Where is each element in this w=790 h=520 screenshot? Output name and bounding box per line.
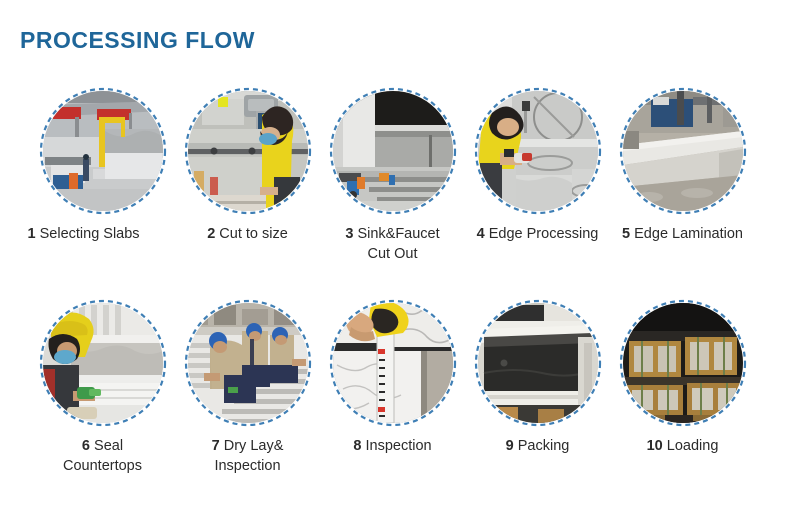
process-step-4[interactable]: 4 Edge Processing (465, 86, 610, 264)
step-6-caption: 6 Seal Countertops (28, 437, 178, 476)
step-1-circle[interactable] (38, 86, 168, 216)
step-7-caption: 7 Dry Lay& Inspection (173, 437, 323, 476)
photo-edge-lamination (623, 91, 743, 211)
step-2-circle[interactable] (183, 86, 313, 216)
process-step-3[interactable]: 3 Sink&Faucet Cut Out (320, 86, 465, 264)
step-10-label: Loading (667, 438, 719, 454)
step-9-caption: 9 Packing (463, 437, 613, 457)
process-step-5[interactable]: 5 Edge Lamination (610, 86, 755, 264)
step-4-number: 4 (477, 226, 485, 242)
step-10-caption: 10 Loading (608, 437, 758, 457)
step-6-number: 6 (82, 438, 90, 454)
step-10-circle[interactable] (618, 298, 748, 428)
step-1-label: Selecting Slabs (40, 226, 140, 242)
process-step-9[interactable]: 9 Packing (465, 298, 610, 476)
step-5-number: 5 (622, 226, 630, 242)
page-title: PROCESSING FLOW (20, 27, 255, 54)
step-5-circle[interactable] (618, 86, 748, 216)
photo-seal-countertops (43, 303, 163, 423)
step-6-circle[interactable] (38, 298, 168, 428)
step-3-label-line1: Sink&Faucet (357, 226, 439, 242)
process-step-10[interactable]: 10 Loading (610, 298, 755, 476)
process-step-1[interactable]: 1 Selecting Slabs (30, 86, 175, 264)
process-step-6[interactable]: 6 Seal Countertops (30, 298, 175, 476)
step-6-label-line1: Seal (94, 438, 123, 454)
step-1-caption: 1 Selecting Slabs (28, 225, 178, 245)
step-4-caption: 4 Edge Processing (463, 225, 613, 245)
step-3-caption: 3 Sink&Faucet Cut Out (318, 225, 468, 264)
step-5-label: Edge Lamination (634, 226, 743, 242)
step-7-label-line2: Inspection (173, 457, 323, 477)
step-9-label: Packing (518, 438, 570, 454)
photo-packing (478, 303, 598, 423)
step-4-label: Edge Processing (489, 226, 599, 242)
step-8-circle[interactable] (328, 298, 458, 428)
process-row-bottom: 6 Seal Countertops (0, 298, 790, 476)
step-3-label-line2: Cut Out (318, 245, 468, 265)
photo-inspection (333, 303, 453, 423)
photo-dry-lay-inspection (188, 303, 308, 423)
step-3-number: 3 (345, 226, 353, 242)
step-9-circle[interactable] (473, 298, 603, 428)
step-7-number: 7 (212, 438, 220, 454)
photo-loading (623, 303, 743, 423)
step-1-number: 1 (28, 226, 36, 242)
step-7-label-line1: Dry Lay& (224, 438, 284, 454)
step-10-number: 10 (647, 438, 663, 454)
step-7-circle[interactable] (183, 298, 313, 428)
photo-selecting-slabs (43, 91, 163, 211)
step-2-number: 2 (207, 226, 215, 242)
process-step-8[interactable]: 8 Inspection (320, 298, 465, 476)
step-4-circle[interactable] (473, 86, 603, 216)
step-3-circle[interactable] (328, 86, 458, 216)
step-8-number: 8 (353, 438, 361, 454)
step-2-caption: 2 Cut to size (173, 225, 323, 245)
step-9-number: 9 (506, 438, 514, 454)
step-2-label: Cut to size (219, 226, 288, 242)
step-5-caption: 5 Edge Lamination (608, 225, 758, 245)
process-row-top: 1 Selecting Slabs (0, 86, 790, 264)
process-step-2[interactable]: 2 Cut to size (175, 86, 320, 264)
step-8-caption: 8 Inspection (318, 437, 468, 457)
step-6-label-line2: Countertops (28, 457, 178, 477)
photo-sink-faucet-cut-out (333, 91, 453, 211)
process-step-7[interactable]: 7 Dry Lay& Inspection (175, 298, 320, 476)
step-8-label: Inspection (366, 438, 432, 454)
photo-edge-processing (478, 91, 598, 211)
photo-cut-to-size (188, 91, 308, 211)
